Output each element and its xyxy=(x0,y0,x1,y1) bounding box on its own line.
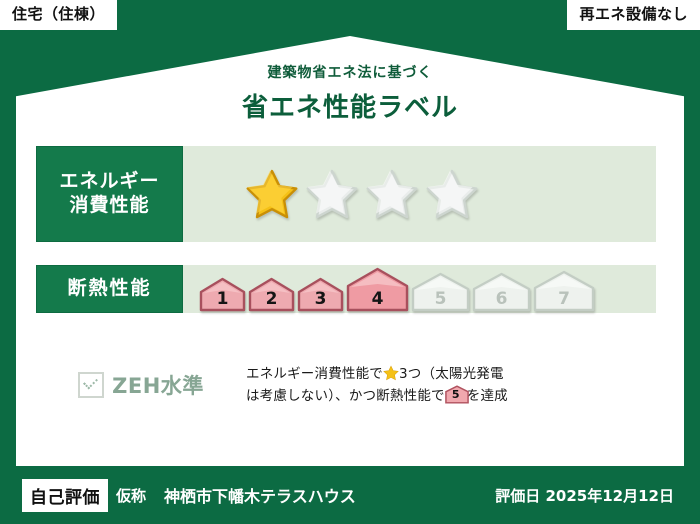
star-icon-filled xyxy=(245,168,299,220)
zeh-desc-part4: を達成 xyxy=(467,388,508,404)
zeh-desc-part1: エネルギー消費性能で xyxy=(246,366,383,382)
star-icon-empty xyxy=(305,168,359,220)
insulation-level-3: 3 xyxy=(297,277,344,312)
insulation-level-scale: 1234567 xyxy=(199,267,595,312)
title-subtitle: 建築物省エネ法に基づく xyxy=(0,62,700,82)
provisional-name-label: 仮称 xyxy=(116,485,146,506)
insulation-level-7: 7 xyxy=(533,270,595,312)
insulation-badge-icon: 5 xyxy=(445,385,467,402)
insulation-performance-row: 断熱性能 1234567 xyxy=(36,265,656,313)
insulation-level-4: 4 xyxy=(346,267,409,312)
tag-renewable-energy: 再エネ設備なし xyxy=(567,0,700,30)
zeh-label: ZEH水準 xyxy=(112,370,204,400)
zeh-desc-part2: 3つ（太陽光発電 xyxy=(399,366,504,382)
insulation-level-6: 6 xyxy=(472,272,531,312)
zeh-standard-block: ZEH水準 エネルギー消費性能で 3つ（太陽光発電 は考慮しない）、かつ断熱性能… xyxy=(36,362,656,418)
tag-building-type: 住宅（住棟） xyxy=(0,0,117,30)
energy-performance-label: 住宅（住棟） 再エネ設備なし 建築物省エネ法に基づく 省エネ性能ラベル エネルギ… xyxy=(0,0,700,524)
building-name: 神栖市下幡木テラスハウス xyxy=(164,483,356,507)
zeh-badge: ZEH水準 xyxy=(36,362,246,400)
star-icon xyxy=(383,365,399,381)
insulation-level-2: 2 xyxy=(248,277,295,312)
energy-performance-row: エネルギー 消費性能 xyxy=(36,146,656,242)
energy-performance-label: エネルギー 消費性能 xyxy=(36,146,183,242)
zeh-desc-part3: は考慮しない）、かつ断熱性能で xyxy=(246,388,445,404)
insulation-performance-value: 1234567 xyxy=(183,265,656,313)
page-title: 建築物省エネ法に基づく 省エネ性能ラベル xyxy=(0,62,700,124)
energy-label-line2: 消費性能 xyxy=(69,194,149,218)
insulation-label-text: 断熱性能 xyxy=(67,277,151,301)
star-rating xyxy=(245,168,479,220)
insulation-level-5: 5 xyxy=(411,272,470,312)
title-main: 省エネ性能ラベル xyxy=(0,87,700,124)
energy-performance-value xyxy=(183,146,656,242)
star-icon-empty xyxy=(365,168,419,220)
checkbox-icon xyxy=(78,372,104,398)
self-evaluation-badge: 自己評価 xyxy=(22,479,108,512)
star-icon-empty xyxy=(425,168,479,220)
footer-bar: 自己評価 仮称 神栖市下幡木テラスハウス 評価日 2025年12月12日 xyxy=(0,466,700,524)
evaluation-date: 評価日 2025年12月12日 xyxy=(495,485,674,506)
energy-label-line1: エネルギー xyxy=(59,170,159,194)
insulation-level-1: 1 xyxy=(199,277,246,312)
insulation-performance-label: 断熱性能 xyxy=(36,265,183,313)
zeh-description: エネルギー消費性能で 3つ（太陽光発電 は考慮しない）、かつ断熱性能で 5 を達… xyxy=(246,362,656,407)
evaluation-date-value: 2025年12月12日 xyxy=(546,487,675,505)
evaluation-date-label: 評価日 xyxy=(495,487,540,505)
insulation-badge-value: 5 xyxy=(445,385,467,402)
